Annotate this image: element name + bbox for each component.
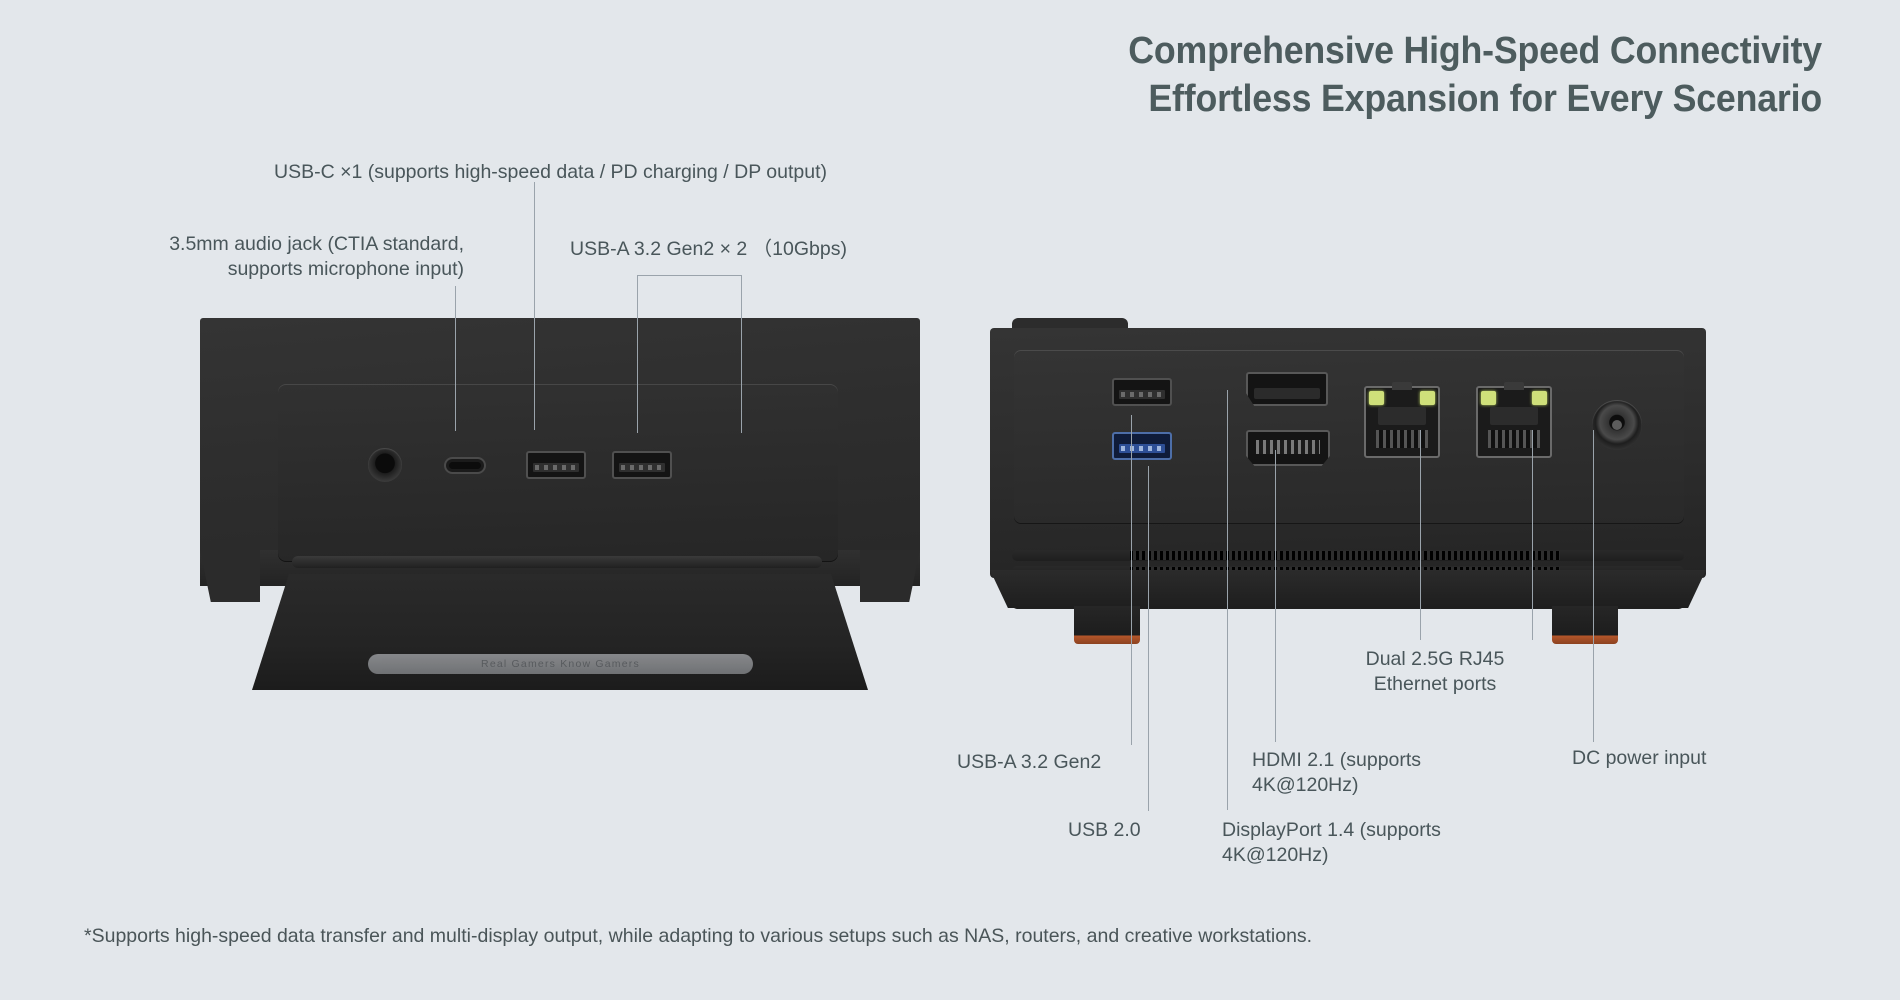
rj45-port-1 — [1364, 386, 1440, 458]
usb-2-0-port — [1112, 432, 1172, 460]
dc-power-jack — [1592, 400, 1642, 450]
left-device-bevel-left — [200, 550, 260, 602]
leader-bracket-usb-a — [637, 275, 741, 276]
callout-label-usb-2-0: USB 2.0 — [1068, 818, 1141, 843]
callout-label-audio-jack: 3.5mm audio jack (CTIA standard, support… — [4, 232, 464, 283]
vent-row — [1012, 550, 1684, 561]
title-line-2: Effortless Expansion for Every Scenario — [1128, 76, 1822, 124]
usb-a-port-top — [1112, 378, 1172, 406]
leader-line-audio-jack — [455, 286, 456, 431]
rj45-tab — [1504, 382, 1524, 390]
left-device-illustration: Real Gamers Know Gamers — [200, 318, 920, 698]
usb-c-port — [444, 457, 486, 474]
callout-label-displayport: DisplayPort 1.4 (supports 4K@120Hz) — [1222, 818, 1441, 869]
page-title: Comprehensive High-Speed Connectivity Ef… — [1128, 28, 1822, 124]
rj45-slot — [1378, 407, 1426, 425]
title-line-1: Comprehensive High-Speed Connectivity — [1128, 30, 1822, 72]
callout-label-hdmi: HDMI 2.1 (supports 4K@120Hz) — [1252, 748, 1421, 799]
diagram-canvas: Comprehensive High-Speed Connectivity Ef… — [0, 0, 1900, 1000]
displayport-port — [1246, 372, 1328, 406]
displayport-inner — [1254, 388, 1320, 399]
usb-tongue — [1119, 444, 1165, 453]
left-device-hinge — [292, 556, 822, 568]
leader-line-rj45-1 — [1420, 430, 1421, 640]
leader-line-usb-2-0 — [1148, 466, 1149, 811]
usb-a-port-2 — [612, 451, 672, 479]
hdmi-pins — [1256, 440, 1320, 454]
callout-label-rj45: Dual 2.5G RJ45 Ethernet ports — [1355, 647, 1515, 698]
left-device-io-panel — [278, 384, 838, 562]
right-device-io-panel — [1014, 350, 1684, 524]
right-device-illustration — [990, 318, 1720, 638]
callout-label-usb-c: USB-C ×1 (supports high-speed data / PD … — [274, 160, 827, 185]
leader-line-hdmi — [1275, 450, 1276, 742]
audio-jack-port — [368, 448, 402, 482]
leader-line-rj45-2 — [1532, 430, 1533, 640]
hdmi-port — [1246, 430, 1330, 466]
stand-name-plate: Real Gamers Know Gamers — [368, 654, 753, 674]
footnote-text: *Supports high-speed data transfer and m… — [84, 925, 1312, 948]
usb-a-tongue — [619, 463, 665, 472]
leader-line-dc-power — [1593, 430, 1594, 742]
usb-a-tongue — [1119, 390, 1165, 399]
callout-label-usb-a: USB-A 3.2 Gen2 — [957, 750, 1101, 775]
leader-line-usb-a-2 — [741, 275, 742, 433]
leader-line-displayport — [1227, 390, 1228, 810]
usb-a-tongue — [533, 463, 579, 472]
device-foot-right — [1552, 606, 1618, 644]
rj45-port-2 — [1476, 386, 1552, 458]
right-device-base — [990, 570, 1706, 608]
callout-label-dc-power: DC power input — [1572, 746, 1706, 771]
rj45-led-right — [1532, 391, 1547, 405]
rj45-tab — [1392, 382, 1412, 390]
left-device-bevel-right — [860, 550, 920, 602]
leader-line-usb-c — [534, 182, 535, 430]
leader-line-usb-a-1 — [637, 275, 638, 433]
rj45-led-left — [1369, 391, 1384, 405]
usb-a-port-1 — [526, 451, 586, 479]
leader-line-usb-a — [1131, 415, 1132, 745]
rj45-led-left — [1481, 391, 1496, 405]
rj45-led-right — [1420, 391, 1435, 405]
callout-label-usb-a-pair: USB-A 3.2 Gen2 × 2 （10Gbps) — [570, 237, 847, 262]
rj45-slot — [1490, 407, 1538, 425]
